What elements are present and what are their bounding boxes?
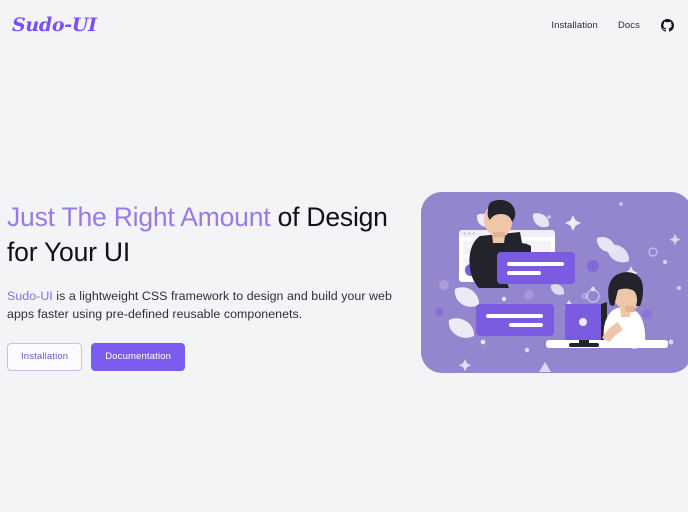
subcopy-brand: Sudo-UI	[7, 289, 53, 303]
nav-link-installation[interactable]: Installation	[551, 20, 598, 31]
cta-row: Installation Documentation	[7, 343, 403, 371]
main-nav: Installation Docs	[551, 18, 674, 32]
installation-button[interactable]: Installation	[7, 343, 82, 371]
brand-logo[interactable]: Sudo-UI	[8, 14, 97, 36]
team-collaboration-illustration	[421, 192, 688, 373]
github-icon[interactable]	[660, 18, 674, 32]
hero-section: Just The Right Amount of Design for Your…	[0, 50, 688, 373]
page-title: Just The Right Amount of Design for Your…	[7, 200, 403, 270]
site-header: Sudo-UI Installation Docs	[0, 0, 688, 50]
hero-copy: Just The Right Amount of Design for Your…	[7, 192, 403, 371]
nav-link-docs[interactable]: Docs	[618, 20, 640, 31]
headline-accent: Just The Right Amount	[7, 202, 270, 232]
documentation-button[interactable]: Documentation	[91, 343, 185, 371]
subcopy-text: is a lightweight CSS framework to design…	[7, 289, 392, 321]
hero-subcopy: Sudo-UI is a lightweight CSS framework t…	[7, 287, 399, 323]
